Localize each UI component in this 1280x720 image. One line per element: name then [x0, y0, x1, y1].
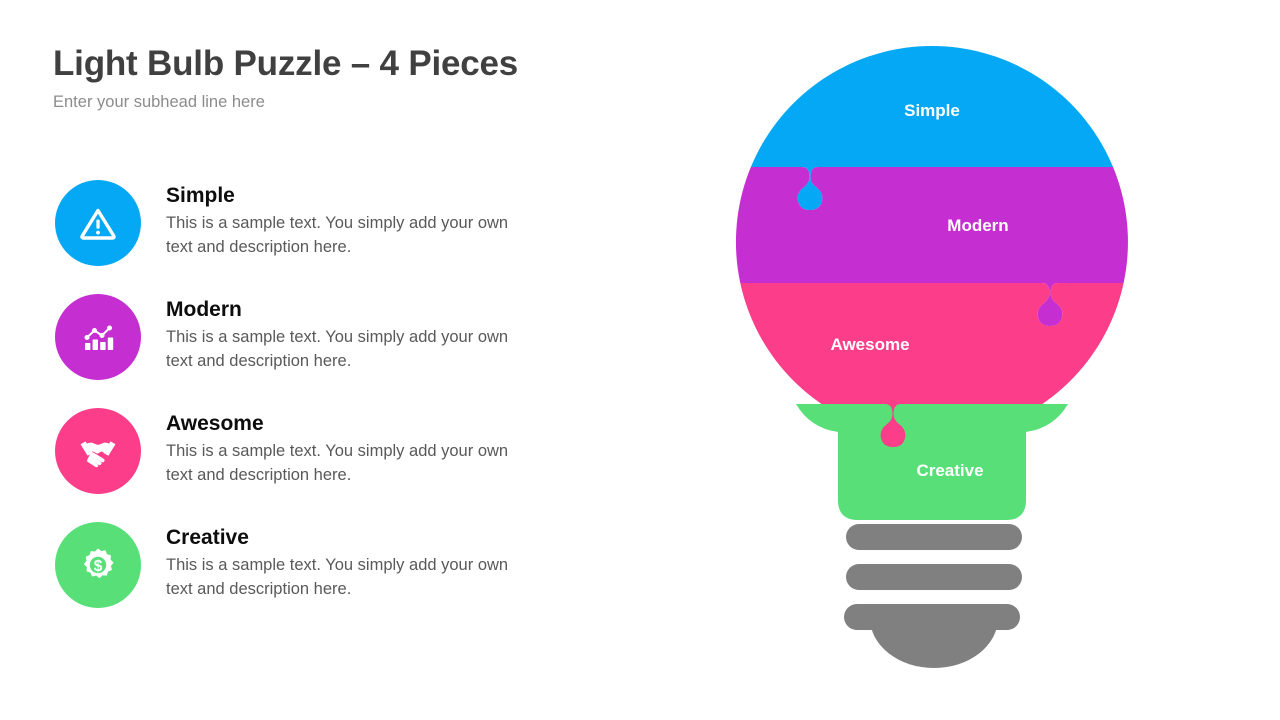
bulb-shoulder-left — [770, 404, 838, 432]
feature-icon-badge-modern — [55, 294, 141, 380]
light-bulb-puzzle-diagram: Simple Modern Awesome Creative — [700, 20, 1180, 700]
feature-heading: Creative — [166, 526, 518, 551]
feature-item-awesome[interactable]: Awesome This is a sample text. You simpl… — [55, 408, 525, 522]
page-subtitle: Enter your subhead line here — [53, 93, 265, 112]
page-title: Light Bulb Puzzle – 4 Pieces — [53, 44, 518, 84]
feature-description: This is a sample text. You simply add yo… — [166, 554, 518, 602]
feature-item-creative[interactable]: $ Creative This is a sample text. You si… — [55, 522, 525, 636]
bulb-label-awesome: Awesome — [830, 335, 909, 354]
feature-text-creative: Creative This is a sample text. You simp… — [166, 526, 518, 602]
feature-item-simple[interactable]: Simple This is a sample text. You simply… — [55, 180, 525, 294]
bulb-base-cap — [870, 618, 998, 668]
bulb-glass-group — [700, 20, 1180, 700]
feature-description: This is a sample text. You simply add yo… — [166, 326, 518, 374]
bulb-base-ring-1 — [846, 524, 1022, 550]
bulb-label-modern: Modern — [947, 216, 1008, 235]
feature-item-modern[interactable]: Modern This is a sample text. You simply… — [55, 294, 525, 408]
gear-dollar-icon: $ — [75, 542, 121, 588]
bar-chart-trend-icon — [76, 315, 120, 359]
warning-triangle-icon — [76, 201, 120, 245]
feature-text-modern: Modern This is a sample text. You simply… — [166, 298, 518, 374]
feature-list: Simple This is a sample text. You simply… — [55, 180, 525, 636]
feature-icon-badge-simple — [55, 180, 141, 266]
bulb-base-ring-2 — [846, 564, 1022, 590]
feature-text-awesome: Awesome This is a sample text. You simpl… — [166, 412, 518, 488]
bulb-label-simple: Simple — [904, 101, 960, 120]
feature-heading: Awesome — [166, 412, 518, 437]
feature-description: This is a sample text. You simply add yo… — [166, 212, 518, 260]
feature-description: This is a sample text. You simply add yo… — [166, 440, 518, 488]
bulb-shoulder-right — [1026, 404, 1094, 432]
feature-heading: Modern — [166, 298, 518, 323]
feature-heading: Simple — [166, 184, 518, 209]
feature-icon-badge-awesome — [55, 408, 141, 494]
feature-text-simple: Simple This is a sample text. You simply… — [166, 184, 518, 260]
bulb-label-creative: Creative — [916, 461, 983, 480]
bulb-base-group — [844, 524, 1022, 668]
svg-text:$: $ — [94, 558, 103, 575]
slide-canvas: Light Bulb Puzzle – 4 Pieces Enter your … — [0, 0, 1280, 720]
handshake-icon — [75, 428, 121, 474]
feature-icon-badge-creative: $ — [55, 522, 141, 608]
